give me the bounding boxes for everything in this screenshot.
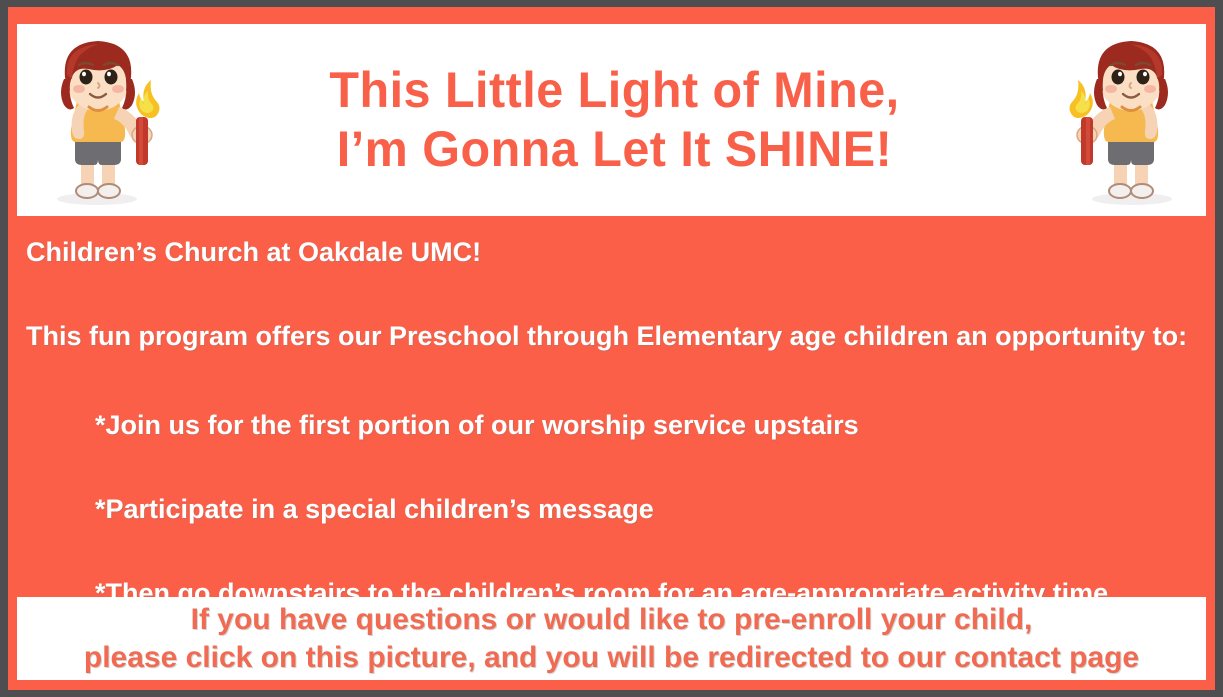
poster-outer-frame: This Little Light of Mine, I’m Gonna Let… [0,0,1223,697]
footer-line-2: please click on this picture, and you wi… [84,639,1139,677]
header-banner: This Little Light of Mine, I’m Gonna Let… [17,24,1206,216]
poster-title: This Little Light of Mine, I’m Gonna Let… [181,61,1048,179]
body-region: Children’s Church at Oakdale UMC! This f… [17,218,1215,592]
footer-cta-banner[interactable]: If you have questions or would like to p… [17,597,1206,680]
body-intro: This fun program offers our Preschool th… [26,322,1215,352]
poster-card[interactable]: This Little Light of Mine, I’m Gonna Let… [8,7,1215,690]
child-holding-candle-mirrored-icon [1048,31,1198,209]
bullet-item-2: *Participate in a special children’s mes… [95,495,1215,525]
bullet-item-1: *Join us for the first portion of our wo… [95,411,1215,441]
child-holding-candle-icon [31,31,181,209]
footer-line-1: If you have questions or would like to p… [191,601,1033,639]
title-line-2: I’m Gonna Let It SHINE! [194,120,1035,179]
body-heading: Children’s Church at Oakdale UMC! [26,238,1215,268]
title-line-1: This Little Light of Mine, [194,61,1035,120]
